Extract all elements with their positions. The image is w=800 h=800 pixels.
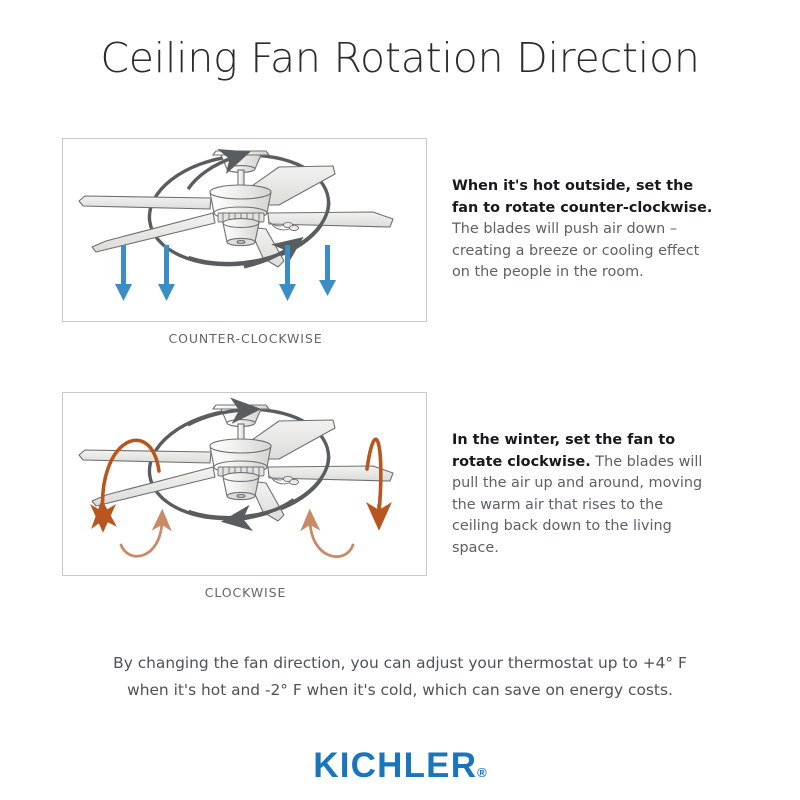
footnote-line-1: By changing the fan direction, you can a…: [0, 650, 800, 677]
copy-clockwise: In the winter, set the fan to rotate clo…: [452, 430, 714, 559]
light-kit-icon: [223, 473, 259, 500]
light-kit-icon: [223, 219, 259, 246]
brand-logo: KICHLER®: [0, 746, 800, 786]
copy-body-counter-clockwise: The blades will push air down – creating…: [452, 221, 699, 280]
airflow-arrows-down: [115, 245, 336, 301]
page-title: Ceiling Fan Rotation Direction: [0, 34, 800, 82]
panel-clockwise: [62, 392, 427, 576]
infographic-page: Ceiling Fan Rotation Direction: [0, 0, 800, 800]
airflow-arcs-up: [121, 521, 353, 557]
copy-counter-clockwise: When it's hot outside, set the fan to ro…: [452, 176, 714, 284]
ceiling-fan-counter-clockwise-diagram: [63, 139, 426, 321]
footnote: By changing the fan direction, you can a…: [0, 650, 800, 704]
ceiling-fan-clockwise-diagram: [63, 393, 426, 575]
airflow-arc-up: [121, 521, 162, 556]
airflow-arrow-down: [319, 245, 336, 296]
panel-counter-clockwise: [62, 138, 427, 322]
footnote-line-2: when it's hot and -2° F when it's cold, …: [0, 677, 800, 704]
brand-logo-wordmark: KICHLER: [313, 746, 477, 786]
caption-clockwise: CLOCKWISE: [62, 585, 429, 600]
registered-trademark-icon: ®: [477, 765, 487, 780]
airflow-arrow-down: [115, 245, 132, 301]
caption-counter-clockwise: COUNTER-CLOCKWISE: [62, 331, 429, 346]
copy-lead-counter-clockwise: When it's hot outside, set the fan to ro…: [452, 178, 712, 216]
airflow-arc-up: [310, 521, 353, 557]
